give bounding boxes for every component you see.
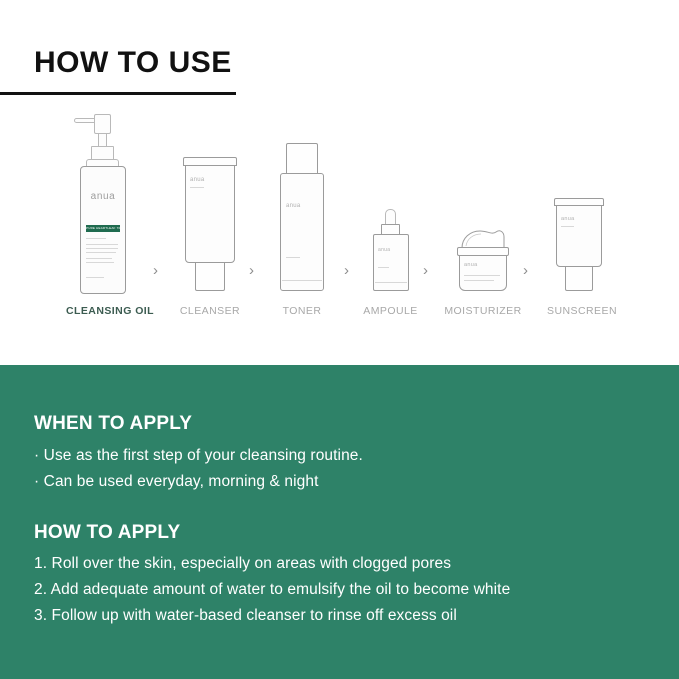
pump-stem xyxy=(98,133,107,147)
routine-steps-row: anua PURE HEARTLEAF 70 CLEANSING OIL › xyxy=(0,105,679,330)
how-to-use-section: HOW TO USE anua PURE H xyxy=(0,0,679,365)
pump-collar xyxy=(91,146,114,160)
sunscreen-tube-icon: anua xyxy=(540,105,625,300)
label-text-line xyxy=(86,238,106,239)
routine-step-toner: anua TONER xyxy=(265,105,340,330)
how-to-apply-item: 2. Add adequate amount of water to emuls… xyxy=(34,581,510,599)
how-to-apply-heading: HOW TO APPLY xyxy=(34,522,180,544)
routine-step-label: SUNSCREEN xyxy=(532,305,632,317)
brand-logo: anua xyxy=(378,247,404,253)
jar-body xyxy=(459,255,507,291)
label-text-line xyxy=(86,248,118,249)
pump-bottle-icon: anua PURE HEARTLEAF 70 xyxy=(60,105,160,300)
dropper-bottle-icon: anua xyxy=(358,105,423,300)
title-underline xyxy=(0,92,236,95)
how-to-apply-item: 1. Roll over the skin, especially on are… xyxy=(34,555,451,573)
step-separator-icon: › xyxy=(153,263,158,278)
label-text-line xyxy=(561,226,574,227)
product-label-band: PURE HEARTLEAF 70 xyxy=(86,225,120,232)
label-text-line xyxy=(86,262,114,263)
bottle-base-line xyxy=(282,280,322,281)
routine-step-label: AMPOULE xyxy=(348,305,433,317)
page-title: HOW TO USE xyxy=(34,46,232,80)
routine-step-cleanser: anua CLEANSER xyxy=(170,105,250,330)
instructions-section: WHEN TO APPLY · Use as the first step of… xyxy=(0,365,679,679)
routine-step-label: MOISTURIZER xyxy=(428,305,538,317)
label-text-line xyxy=(464,275,500,276)
routine-step-label: TONER xyxy=(257,305,347,317)
step-separator-icon: › xyxy=(423,263,428,278)
brand-logo: anua xyxy=(464,262,492,268)
product-label-band-text: PURE HEARTLEAF 70 xyxy=(86,225,120,231)
label-text-line xyxy=(190,187,204,188)
label-text-line xyxy=(86,277,104,278)
label-text-line xyxy=(86,252,116,253)
step-separator-icon: › xyxy=(523,263,528,278)
routine-step-ampoule: anua AMPOULE xyxy=(358,105,423,330)
how-to-apply-item: 3. Follow up with water-based cleanser t… xyxy=(34,607,457,625)
label-text-line xyxy=(86,244,118,245)
when-to-apply-item: · Can be used everyday, morning & night xyxy=(34,473,319,491)
tube-icon: anua xyxy=(170,105,250,300)
label-text-line xyxy=(464,280,494,281)
routine-step-moisturizer: anua MOISTURIZER xyxy=(440,105,525,330)
step-separator-icon: › xyxy=(249,263,254,278)
tube-body xyxy=(556,205,602,267)
tube-cap xyxy=(565,266,593,291)
when-to-apply-item: · Use as the first step of your cleansin… xyxy=(34,447,363,465)
tube-cap xyxy=(195,262,225,291)
routine-step-cleansing-oil: anua PURE HEARTLEAF 70 CLEANSING OIL xyxy=(60,105,160,330)
cream-jar-icon: anua xyxy=(440,105,525,300)
toner-body xyxy=(280,173,324,291)
routine-step-label: CLEANSER xyxy=(165,305,255,317)
dropper-bulb xyxy=(385,209,396,225)
when-to-apply-heading: WHEN TO APPLY xyxy=(34,413,192,435)
brand-logo: anua xyxy=(190,177,220,183)
pump-head xyxy=(94,114,111,134)
brand-logo: anua xyxy=(561,216,589,222)
routine-step-label: CLEANSING OIL xyxy=(55,305,165,317)
toner-bottle-icon: anua xyxy=(265,105,340,300)
label-text-line xyxy=(378,267,389,268)
brand-logo: anua xyxy=(286,203,316,209)
routine-step-sunscreen: anua SUNSCREEN xyxy=(540,105,625,330)
bottle-base-line xyxy=(375,282,407,283)
step-separator-icon: › xyxy=(344,263,349,278)
label-text-line xyxy=(86,258,112,259)
label-text-line xyxy=(286,257,300,258)
brand-logo: anua xyxy=(80,191,126,202)
infographic-page: HOW TO USE anua PURE H xyxy=(0,0,679,679)
